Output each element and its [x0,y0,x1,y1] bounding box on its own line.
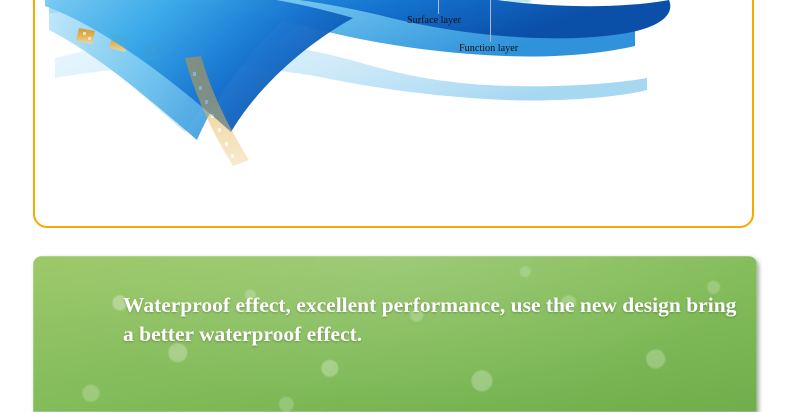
leader-line-surface [438,0,439,14]
fabric-diagram-panel: Silicone oil water-proof coating Block r… [33,0,754,228]
label-surface-layer: Surface layer [407,14,481,27]
leader-line-function [490,0,491,42]
banner-headline: Waterproof effect, excellent performance… [123,291,743,349]
fabric-diagram-illustration: Silicone oil water-proof coating Block r… [35,0,752,226]
waterproof-banner: Waterproof effect, excellent performance… [33,256,757,412]
product-detail-page: Silicone oil water-proof coating Block r… [0,0,790,412]
label-function-layer: Function layer [459,42,539,55]
